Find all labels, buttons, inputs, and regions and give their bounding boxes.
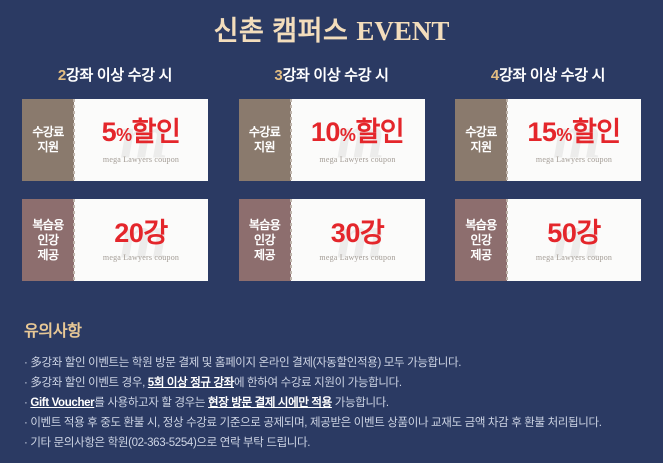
coupon-value-number: 50 bbox=[547, 218, 576, 248]
notice-item: · 多강좌 할인 이벤트는 학원 방문 결제 및 홈페이지 온라인 결제(자동할… bbox=[24, 353, 639, 373]
notice-text: 를 사용하고자 할 경우는 bbox=[94, 397, 208, 409]
coupon-body: m15%할인mega Lawyers coupon bbox=[507, 99, 641, 181]
coupon-tab-label: 수강료지원 bbox=[22, 99, 74, 181]
event-tier-column: 3강좌 이상 수강 시수강료지원m10%할인mega Lawyers coupo… bbox=[239, 64, 425, 299]
coupon-value: 50강 bbox=[547, 218, 600, 248]
notices-title: 유의사항 bbox=[24, 317, 639, 341]
tier-heading-text: 강좌 이상 수강 시 bbox=[499, 67, 605, 84]
coupon-body: m20강mega Lawyers coupon bbox=[74, 199, 208, 281]
tier-heading: 2강좌 이상 수강 시 bbox=[22, 64, 208, 85]
coupon-tab-label: 수강료지원 bbox=[239, 99, 291, 181]
coupon-value: 5%할인 bbox=[102, 117, 181, 150]
coupon-value-number: 20 bbox=[114, 218, 143, 248]
tier-heading: 4강좌 이상 수강 시 bbox=[455, 64, 641, 85]
coupon-body: m50강mega Lawyers coupon bbox=[507, 199, 641, 281]
notices-section: 유의사항 · 多강좌 할인 이벤트는 학원 방문 결제 및 홈페이지 온라인 결… bbox=[0, 317, 663, 453]
coupon-value: 30강 bbox=[331, 218, 384, 248]
notice-item: · 多강좌 할인 이벤트 경우, 5회 이상 정규 강좌에 한하여 수강료 지원… bbox=[24, 373, 639, 393]
notice-text: 多강좌 할인 이벤트 경우, bbox=[27, 377, 147, 389]
coupon-value-number: 15 bbox=[527, 117, 556, 147]
coupon-value-number: 10 bbox=[311, 117, 340, 147]
notice-emphasis: Gift Voucher bbox=[30, 397, 94, 409]
coupon-value-number: 5 bbox=[102, 117, 117, 147]
page-title-english: EVENT bbox=[356, 16, 449, 46]
coupon-value: 15%할인 bbox=[527, 117, 620, 150]
coupon-body: m5%할인mega Lawyers coupon bbox=[74, 99, 208, 181]
tier-heading-text: 강좌 이상 수강 시 bbox=[66, 67, 172, 84]
coupon-brand-text: mega Lawyers coupon bbox=[103, 155, 179, 164]
coupon-value-suffix: 강 bbox=[576, 218, 600, 248]
notice-emphasis: 현장 방문 결제 시에만 적용 bbox=[208, 397, 332, 409]
coupon-value-unit: % bbox=[340, 125, 356, 145]
coupon-tab-label: 복습용인강제공 bbox=[239, 199, 291, 281]
coupon-body: m30강mega Lawyers coupon bbox=[291, 199, 425, 281]
page-header: 신촌 캠퍼스 EVENT bbox=[0, 0, 663, 62]
event-tier-columns: 2강좌 이상 수강 시수강료지원m5%할인mega Lawyers coupon… bbox=[0, 64, 663, 299]
coupon-value-suffix: 할인 bbox=[355, 117, 404, 147]
coupon-brand-text: mega Lawyers coupon bbox=[536, 155, 612, 164]
notices-list: · 多강좌 할인 이벤트는 학원 방문 결제 및 홈페이지 온라인 결제(자동할… bbox=[24, 353, 639, 453]
event-tier-column: 2강좌 이상 수강 시수강료지원m5%할인mega Lawyers coupon… bbox=[22, 64, 208, 299]
coupon-value-unit: % bbox=[556, 125, 572, 145]
coupon-body: m10%할인mega Lawyers coupon bbox=[291, 99, 425, 181]
notice-text: 기타 문의사항은 학원(02-363-5254)으로 연락 부탁 드립니다. bbox=[27, 437, 310, 449]
coupon-tab-label: 복습용인강제공 bbox=[455, 199, 507, 281]
coupon-value-suffix: 강 bbox=[143, 218, 167, 248]
notice-item: · 기타 문의사항은 학원(02-363-5254)으로 연락 부탁 드립니다. bbox=[24, 433, 639, 453]
coupon-value-suffix: 할인 bbox=[132, 117, 181, 147]
notice-item: · 이벤트 적용 후 중도 환불 시, 정상 수강료 기준으로 공제되며, 제공… bbox=[24, 413, 639, 433]
coupon-value-unit: % bbox=[116, 125, 132, 145]
coupon-card[interactable]: 복습용인강제공m50강mega Lawyers coupon bbox=[455, 199, 641, 281]
tier-heading-number: 2 bbox=[58, 67, 66, 84]
notice-text: 에 한하여 수강료 지원이 가능합니다. bbox=[234, 377, 402, 389]
coupon-card[interactable]: 복습용인강제공m20강mega Lawyers coupon bbox=[22, 199, 208, 281]
coupon-tab-label: 수강료지원 bbox=[455, 99, 507, 181]
coupon-value: 20강 bbox=[114, 218, 167, 248]
coupon-value-suffix: 할인 bbox=[572, 117, 621, 147]
notice-text: 가능합니다. bbox=[332, 397, 389, 409]
coupon-card[interactable]: 수강료지원m15%할인mega Lawyers coupon bbox=[455, 99, 641, 181]
coupon-brand-text: mega Lawyers coupon bbox=[103, 253, 179, 262]
coupon-tab-label: 복습용인강제공 bbox=[22, 199, 74, 281]
notice-text: 이벤트 적용 후 중도 환불 시, 정상 수강료 기준으로 공제되며, 제공받은… bbox=[27, 417, 601, 429]
coupon-card[interactable]: 복습용인강제공m30강mega Lawyers coupon bbox=[239, 199, 425, 281]
coupon-card[interactable]: 수강료지원m5%할인mega Lawyers coupon bbox=[22, 99, 208, 181]
tier-heading: 3강좌 이상 수강 시 bbox=[239, 64, 425, 85]
notice-text: 多강좌 할인 이벤트는 학원 방문 결제 및 홈페이지 온라인 결제(자동할인적… bbox=[27, 357, 461, 369]
coupon-card[interactable]: 수강료지원m10%할인mega Lawyers coupon bbox=[239, 99, 425, 181]
coupon-brand-text: mega Lawyers coupon bbox=[536, 253, 612, 262]
event-tier-column: 4강좌 이상 수강 시수강료지원m15%할인mega Lawyers coupo… bbox=[455, 64, 641, 299]
page-title-korean: 신촌 캠퍼스 bbox=[214, 16, 357, 46]
coupon-value: 10%할인 bbox=[311, 117, 404, 150]
coupon-value-number: 30 bbox=[331, 218, 360, 248]
notice-emphasis: 5회 이상 정규 강좌 bbox=[148, 377, 234, 389]
notice-item: · Gift Voucher를 사용하고자 할 경우는 현장 방문 결제 시에만… bbox=[24, 393, 639, 413]
coupon-brand-text: mega Lawyers coupon bbox=[319, 155, 395, 164]
page-title: 신촌 캠퍼스 EVENT bbox=[0, 14, 663, 48]
tier-heading-number: 4 bbox=[491, 67, 499, 84]
tier-heading-text: 강좌 이상 수강 시 bbox=[282, 67, 388, 84]
coupon-value-suffix: 강 bbox=[360, 218, 384, 248]
coupon-brand-text: mega Lawyers coupon bbox=[319, 253, 395, 262]
